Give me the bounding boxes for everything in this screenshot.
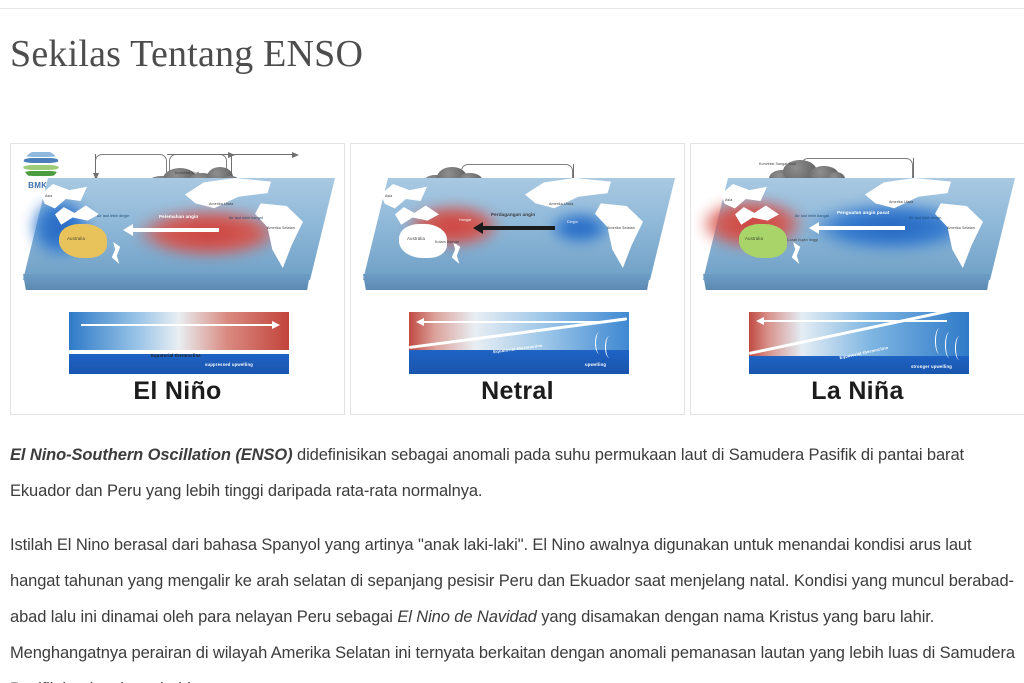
circulation-arrow-top-right-icon (167, 154, 229, 155)
article-body: El Nino-Southern Oscillation (ENSO) dide… (10, 437, 1020, 683)
label-asia: Asia (385, 194, 392, 198)
label-extra: Curah hujan tinggi (787, 238, 818, 242)
top-divider (0, 8, 1024, 9)
netral-scene: Asia Australia Amerika Utara Amerika Sel… (357, 150, 680, 310)
label-west-note: Hangat (459, 218, 471, 222)
upwelling-label: suppressed upwelling (205, 362, 253, 367)
panel-caption-netral: Netral (351, 377, 684, 406)
label-australia: Australia (407, 236, 425, 242)
upwelling-curve-3-icon (955, 336, 964, 360)
el-nino-cross-section: Equatorial thermocline suppressed upwell… (69, 312, 289, 374)
label-wind: Perdagangan angin (491, 212, 535, 218)
panel-el-nino[interactable]: BMKG Konveksi Kuat (10, 143, 345, 415)
upwelling-curve-1-icon (595, 332, 604, 354)
label-australia: Australia (67, 236, 85, 242)
label-wind: Penguatan angin pasat (837, 210, 889, 216)
enso-term: El Nino-Southern Oscillation (ENSO) (10, 446, 293, 464)
ocean-slab: Asia Australia Amerika Utara Amerika Sel… (23, 178, 335, 296)
label-north-america: Amerika Utara (889, 200, 913, 204)
label-west-note: Air laut lebih hangat (795, 214, 829, 218)
page-title: Sekilas Tentang ENSO (10, 32, 363, 76)
surface-flow-arrow-icon (81, 324, 273, 326)
surface-flow-arrow-icon (423, 321, 603, 323)
thermocline-label: Equatorial thermocline (151, 353, 201, 358)
label-wind: Pelemahan angin (159, 214, 198, 220)
label-extra: Kolam Hangat (435, 240, 459, 244)
panel-caption-el-nino: El Niño (11, 377, 344, 406)
upwelling-curve-2-icon (605, 336, 614, 358)
surface-flow-arrow-icon (763, 320, 947, 322)
upwelling-curve-2-icon (945, 332, 954, 358)
label-east-note: Air laut lebih dingin (909, 216, 941, 220)
paragraph-2: Istilah El Nino berasal dari bahasa Span… (10, 527, 1020, 683)
ocean-slab: Asia Australia Amerika Utara Amerika Sel… (703, 178, 1015, 296)
label-clouds: Konveksi Sangat Kuat (759, 162, 796, 166)
label-south-america: Amerika Selatan (267, 226, 295, 230)
label-asia: Asia (725, 198, 732, 202)
label-asia: Asia (45, 194, 52, 198)
panel-netral[interactable]: Asia Australia Amerika Utara Amerika Sel… (350, 143, 685, 415)
upwelling-curve-1-icon (935, 328, 944, 354)
netral-cross-section: Equatorial thermocline upwelling (409, 312, 629, 374)
subsidence-arrow-west-icon (95, 154, 96, 174)
label-east-note: Air laut lebih hangat (229, 216, 263, 220)
el-nino-de-navidad-term: El Nino de Navidad (397, 608, 536, 626)
ocean-slab: Asia Australia Amerika Utara Amerika Sel… (363, 178, 675, 296)
page-root: Sekilas Tentang ENSO BMKG (0, 0, 1024, 683)
paragraph-1: El Nino-Southern Oscillation (ENSO) dide… (10, 437, 1020, 509)
la-nina-cross-section: Equatorial thermocline stronger upwellin… (749, 312, 969, 374)
panel-caption-la-nina: La Niña (691, 377, 1024, 406)
label-north-america: Amerika Utara (209, 202, 233, 206)
label-south-america: Amerika Selatan (947, 226, 975, 230)
upwelling-label: stronger upwelling (911, 364, 952, 369)
sst-gradient-bar (69, 312, 289, 352)
label-australia: Australia (745, 236, 763, 242)
panel-la-nina[interactable]: Konveksi Sangat Kuat Asia Australia Amer… (690, 143, 1024, 415)
circulation-arrow-far-right-icon (231, 154, 293, 155)
label-west-note: Air laut lebih dingin (97, 214, 129, 218)
label-east-note: Dingin (567, 220, 578, 224)
label-south-america: Amerika Selatan (607, 226, 635, 230)
label-clouds: Konveksi Kuat (175, 171, 199, 175)
enso-panel-row: BMKG Konveksi Kuat (10, 143, 1024, 415)
label-north-america: Amerika Utara (549, 202, 573, 206)
upwelling-label: upwelling (585, 362, 606, 367)
la-nina-scene: Konveksi Sangat Kuat Asia Australia Amer… (697, 150, 1020, 310)
el-nino-scene: Konveksi Kuat Asia Australia (17, 150, 340, 310)
